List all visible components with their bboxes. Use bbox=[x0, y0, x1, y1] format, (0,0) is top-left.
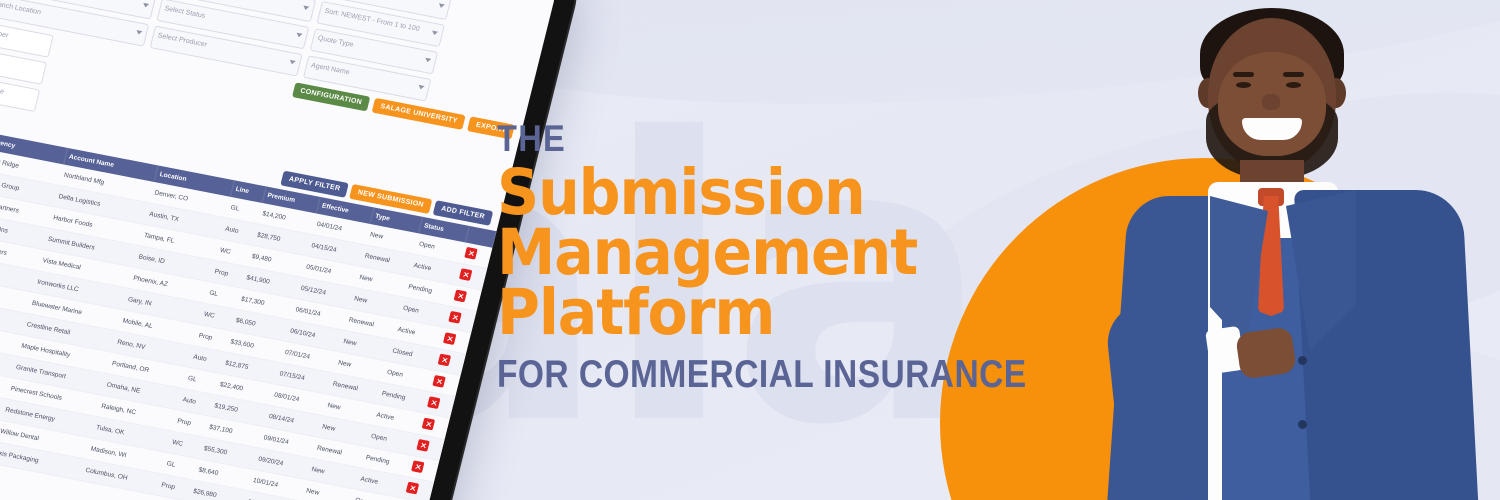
filter-column-4: Quote Number Search Profile Number By St… bbox=[0, 17, 54, 112]
delete-icon[interactable] bbox=[465, 247, 478, 260]
jacket-button-top bbox=[1298, 356, 1307, 365]
main-headline: Submission Management Platform bbox=[497, 163, 925, 343]
headline-line-1: Submission bbox=[497, 163, 925, 223]
cell-actions bbox=[402, 477, 434, 500]
nose bbox=[1262, 94, 1280, 110]
eyebrow-text: THE bbox=[497, 120, 902, 157]
delete-icon[interactable] bbox=[438, 354, 451, 367]
delete-icon[interactable] bbox=[443, 332, 456, 345]
delete-icon[interactable] bbox=[411, 460, 424, 473]
delete-icon[interactable] bbox=[417, 439, 430, 452]
delete-icon[interactable] bbox=[459, 268, 472, 281]
headline-block: THE Submission Management Platform FOR C… bbox=[497, 120, 957, 394]
businessman-photo bbox=[1090, 0, 1500, 500]
filter-column-2: Select Effective Date Expiration Date Fr… bbox=[150, 0, 323, 77]
delete-icon[interactable] bbox=[427, 396, 440, 409]
jacket-button-bottom bbox=[1298, 420, 1307, 429]
university-button[interactable]: SALAGE UNIVERSITY bbox=[372, 98, 466, 130]
eye-left bbox=[1236, 82, 1251, 88]
delete-icon[interactable] bbox=[449, 311, 462, 324]
delete-icon[interactable] bbox=[406, 482, 419, 495]
delete-icon[interactable] bbox=[454, 290, 467, 303]
hand bbox=[1235, 326, 1297, 379]
hero-banner: ala Commercial Lines Submission Dashboar… bbox=[0, 0, 1500, 500]
tablet-bezel: Commercial Lines Submission Dashboard Ac… bbox=[0, 0, 583, 500]
smile bbox=[1242, 118, 1302, 140]
delete-icon[interactable] bbox=[433, 375, 446, 388]
eyebrow-left bbox=[1233, 72, 1254, 77]
delete-icon[interactable] bbox=[422, 418, 435, 431]
eyebrow-right bbox=[1283, 72, 1304, 77]
headline-line-2: Management bbox=[497, 223, 925, 283]
filter-column-3: All Underwriting Reports Sort: NEWEST - … bbox=[303, 0, 452, 102]
headline-line-3: Platform bbox=[497, 283, 925, 343]
sub-headline: FOR COMMERCIAL INSURANCE bbox=[497, 355, 893, 394]
eye-right bbox=[1286, 82, 1301, 88]
tablet-screen: Commercial Lines Submission Dashboard Ac… bbox=[0, 0, 557, 500]
